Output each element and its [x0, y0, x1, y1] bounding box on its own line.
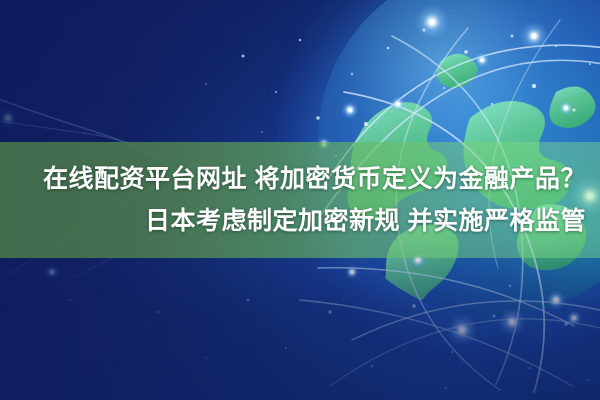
- headline-line-1: 在线配资平台网址 将加密货币定义为金融产品？: [43, 158, 586, 200]
- news-banner-image: 在线配资平台网址 将加密货币定义为金融产品？ 日本考虑制定加密新规 并实施严格监…: [0, 0, 600, 400]
- headline-block: 在线配资平台网址 将加密货币定义为金融产品？ 日本考虑制定加密新规 并实施严格监…: [0, 142, 600, 258]
- headline-line-2: 日本考虑制定加密新规 并实施严格监管: [145, 200, 586, 242]
